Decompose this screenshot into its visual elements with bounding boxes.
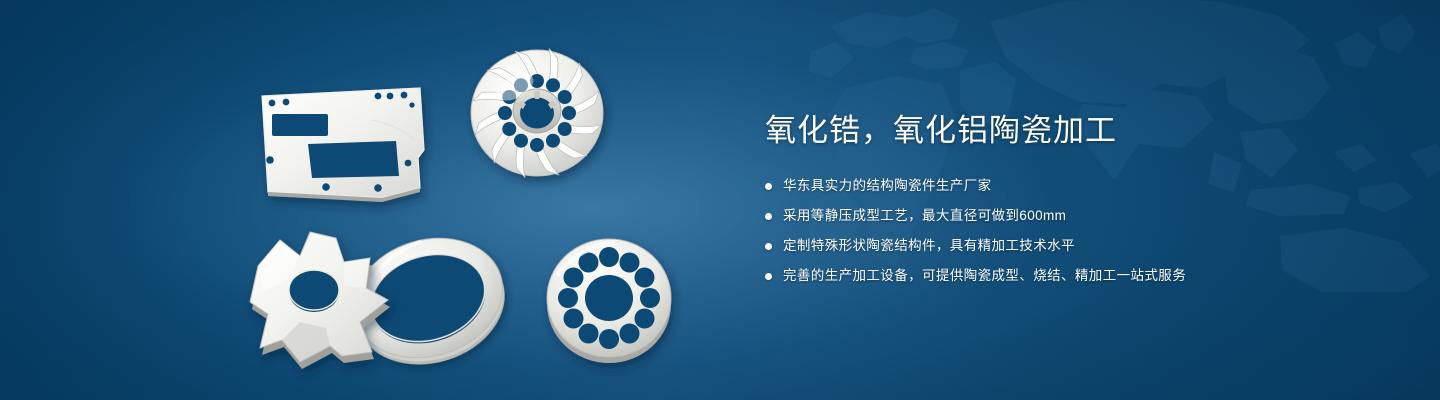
list-item: 华东具实力的结构陶瓷件生产厂家 <box>765 176 1385 196</box>
product-photo-group <box>0 0 760 400</box>
banner-text-block: 氧化锆，氧化铝陶瓷加工 华东具实力的结构陶瓷件生产厂家 采用等静压成型工艺，最大… <box>765 112 1385 296</box>
ceramic-impeller <box>471 48 603 177</box>
bullet-dot-icon <box>765 183 772 190</box>
ceramic-cross-part <box>250 232 390 369</box>
banner-headline: 氧化锆，氧化铝陶瓷加工 <box>765 112 1385 150</box>
feature-list: 华东具实力的结构陶瓷件生产厂家 采用等静压成型工艺，最大直径可做到600mm 定… <box>765 176 1385 286</box>
ceramic-holed-disc <box>547 239 671 363</box>
bullet-dot-icon <box>765 243 772 250</box>
feature-text: 华东具实力的结构陶瓷件生产厂家 <box>783 176 992 196</box>
feature-text: 采用等静压成型工艺，最大直径可做到600mm <box>783 206 1066 226</box>
list-item: 完善的生产加工设备，可提供陶瓷成型、烧结、精加工一站式服务 <box>765 266 1385 286</box>
feature-text: 完善的生产加工设备，可提供陶瓷成型、烧结、精加工一站式服务 <box>783 266 1186 286</box>
list-item: 采用等静压成型工艺，最大直径可做到600mm <box>765 206 1385 226</box>
bullet-dot-icon <box>765 273 772 280</box>
list-item: 定制特殊形状陶瓷结构件，具有精加工技术水平 <box>765 236 1385 256</box>
ceramic-plate <box>262 88 424 202</box>
feature-text: 定制特殊形状陶瓷结构件，具有精加工技术水平 <box>783 236 1075 256</box>
hero-banner: 氧化锆，氧化铝陶瓷加工 华东具实力的结构陶瓷件生产厂家 采用等静压成型工艺，最大… <box>0 0 1440 400</box>
bullet-dot-icon <box>765 213 772 220</box>
